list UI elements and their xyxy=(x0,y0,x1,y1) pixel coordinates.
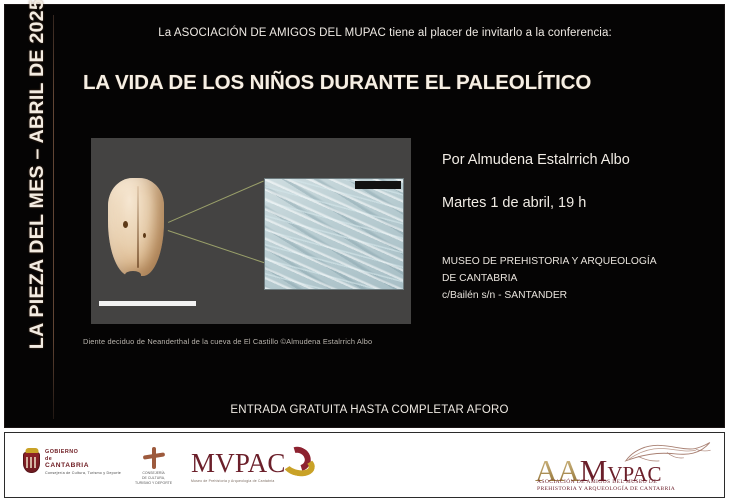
aamvpac-subtitle-line-2: PREHISTORIA Y ARQUEOLOGÍA DE CANTABRIA xyxy=(537,486,675,492)
logo-aamvpac: AAMVPAC ASOCIACIÓN DE AMIGOS DEL MUSEO D… xyxy=(529,441,719,493)
mvpac-word-pac: PAC xyxy=(235,451,286,477)
photo-scale-bar xyxy=(99,301,196,306)
sem-micrograph-inset xyxy=(264,178,404,290)
magnifier-leader-line xyxy=(168,230,267,264)
conference-title: LA VIDA DE LOS NIÑOS DURANTE EL PALEOLÍT… xyxy=(83,71,591,95)
venue-line-3: c/Bailén s/n - SANTANDER xyxy=(442,287,657,304)
consejeria-line-3: TURISMO Y DEPORTE xyxy=(135,481,172,486)
cross-icon xyxy=(143,447,165,469)
tooth-groove xyxy=(137,186,139,268)
mvpac-subtitle: Museo de Prehistoria y Arqueología de Ca… xyxy=(191,479,274,484)
cantabria-shield-icon xyxy=(23,452,40,473)
gobierno-line-3: CANTABRIA xyxy=(45,462,121,470)
poster-dark-panel: LA PIEZA DEL MES – ABRIL DE 2025 La ASOC… xyxy=(4,4,725,428)
consejeria-logo-text: CONSEJERÍA DE CULTURA, TURISMO Y DEPORTE xyxy=(135,471,172,486)
tooth-lesion-spot xyxy=(143,233,146,238)
venue-line-2: DE CANTABRIA xyxy=(442,270,657,287)
photo-caption: Diente deciduo de Neanderthal de la cuev… xyxy=(83,337,372,346)
logo-gobierno-de-cantabria: GOBIERNO de CANTABRIA Consejería de Cult… xyxy=(23,449,121,476)
mvpac-wordmark: MV PAC xyxy=(191,447,321,477)
gobierno-line-1: GOBIERNO xyxy=(45,449,121,456)
vertical-series-title: LA PIEZA DEL MES – ABRIL DE 2025 xyxy=(14,9,60,339)
tooth-lesion-spot xyxy=(123,221,128,228)
invitation-kicker-text: La ASOCIACIÓN DE AMIGOS DEL MUPAC tiene … xyxy=(65,27,705,39)
tooth-root-notch xyxy=(125,271,141,279)
gobierno-line-2: de xyxy=(45,456,121,463)
logo-mvpac: MV PAC Museo de Prehistoria y Arqueologí… xyxy=(191,447,321,484)
micrograph-scale-label xyxy=(355,181,401,189)
event-datetime: Martes 1 de abril, 19 h xyxy=(442,195,586,211)
magnifier-leader-line xyxy=(168,181,264,223)
gobierno-logo-text: GOBIERNO de CANTABRIA Consejería de Cult… xyxy=(45,449,121,476)
tooth-specimen xyxy=(108,178,164,276)
venue-address: MUSEO DE PREHISTORIA Y ARQUEOLOGÍA DE CA… xyxy=(442,253,657,304)
mvpac-word-mv: MV xyxy=(191,451,235,477)
mvpac-swirl-icon xyxy=(281,447,321,477)
tooth-photograph xyxy=(91,138,411,324)
venue-line-1: MUSEO DE PREHISTORIA Y ARQUEOLOGÍA xyxy=(442,253,657,270)
aamvpac-subtitle-line-1: ASOCIACIÓN DE AMIGOS DEL MUSEO DE xyxy=(537,479,657,485)
free-entry-notice: ENTRADA GRATUITA HASTA COMPLETAR AFORO xyxy=(5,404,729,416)
gobierno-line-4: Consejería de Cultura, Turismo y Deporte xyxy=(45,471,121,476)
speaker-name: Por Almudena Estalrrich Albo xyxy=(442,152,630,168)
sponsor-logo-strip: GOBIERNO de CANTABRIA Consejería de Cult… xyxy=(4,432,725,498)
poster-root: LA PIEZA DEL MES – ABRIL DE 2025 La ASOC… xyxy=(0,0,729,502)
logo-consejeria-cultura: CONSEJERÍA DE CULTURA, TURISMO Y DEPORTE xyxy=(135,447,172,486)
